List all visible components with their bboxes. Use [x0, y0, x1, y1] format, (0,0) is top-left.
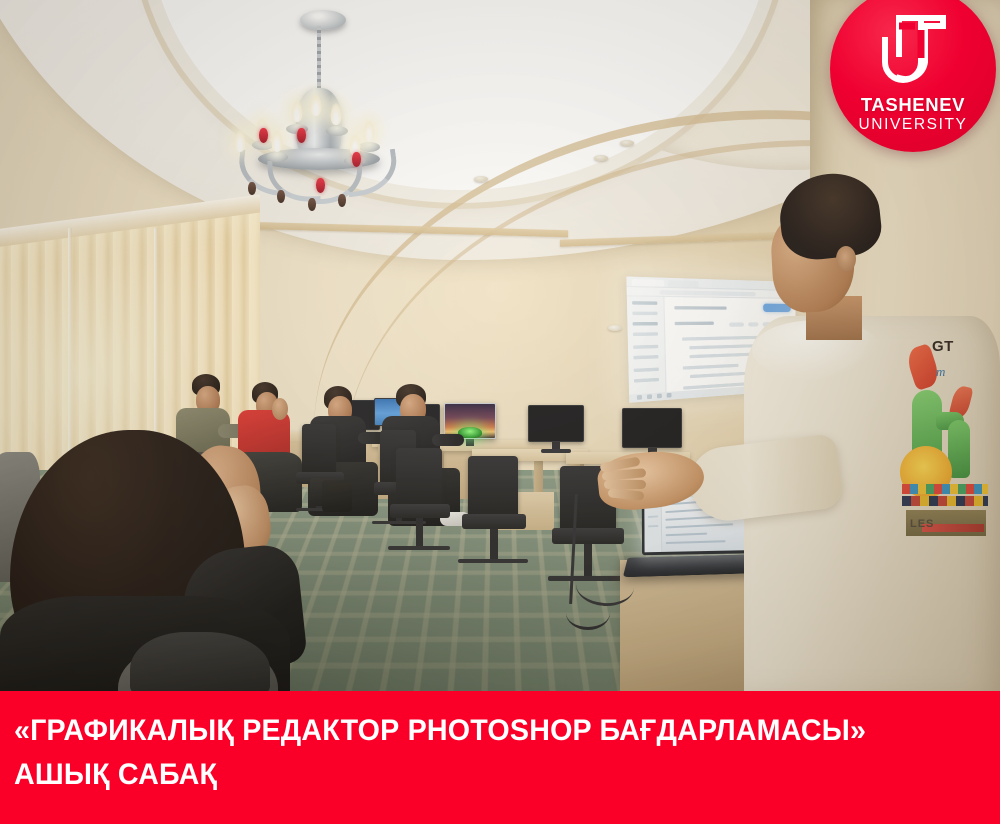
- chandelier-red-crystal: [297, 128, 306, 143]
- chandelier-bulb: [234, 130, 246, 152]
- chair-backrest: [396, 448, 442, 506]
- chandelier-dark-crystal: [338, 194, 346, 207]
- ceiling-rose: [300, 10, 346, 30]
- graphic-stripes: [902, 484, 988, 494]
- chandelier-bulb: [291, 100, 303, 122]
- bag: [322, 480, 352, 512]
- chair-backrest: [468, 456, 518, 516]
- university-logo: TASHENEV UNIVERSITY: [830, 0, 996, 152]
- chandelier-red-crystal: [316, 178, 325, 193]
- power-cable: [566, 596, 610, 630]
- chandelier-bulb: [310, 94, 322, 116]
- ceiling-hook-icon: [594, 155, 608, 161]
- ceiling-hook-icon: [620, 140, 634, 146]
- student-arm: [432, 434, 464, 446]
- content-row: [690, 353, 756, 359]
- sidebar-item: [634, 368, 659, 373]
- sidebar-item: [632, 301, 657, 305]
- chandelier-dark-crystal: [277, 190, 285, 203]
- chandelier-cup: [266, 152, 288, 162]
- caption-bar: «ГРАФИКАЛЫҚ РЕДАКТОР PHOTOSHOP БАҒДАРЛАМ…: [0, 691, 1000, 824]
- sidebar-item: [633, 345, 658, 349]
- chair-base: [388, 546, 450, 550]
- app-sidebar: [627, 296, 667, 394]
- laptop-content-row: [665, 516, 714, 521]
- laptop-content-row: [666, 540, 726, 544]
- tu-monogram-icon: [875, 10, 951, 90]
- chair-backrest: [302, 424, 336, 474]
- foreground-chair: [130, 632, 270, 692]
- caption-line-1: «ГРАФИКАЛЫҚ РЕДАКТОР PHOTOSHOP БАҒДАРЛАМ…: [14, 709, 956, 753]
- taskbar-icon: [647, 394, 652, 399]
- chair-seat: [552, 528, 624, 544]
- taskbar-icon: [637, 395, 642, 400]
- instructor-ear: [836, 246, 856, 272]
- graphic-stripes: [902, 496, 988, 506]
- logo-subtitle-text: UNIVERSITY: [830, 116, 996, 134]
- sidebar-item: [632, 312, 657, 315]
- chair-seat: [390, 504, 450, 518]
- monitor-screen-off: [528, 405, 584, 442]
- graphic-text-bottom: LES: [910, 518, 934, 530]
- chandelier-red-crystal: [352, 152, 361, 167]
- browser-tab: [632, 279, 665, 287]
- graphic-text-script: m: [936, 364, 945, 380]
- chair-post: [490, 529, 498, 561]
- chandelier-chain: [317, 26, 321, 92]
- laptop-content-row: [666, 523, 734, 528]
- content-row: [682, 336, 761, 341]
- poster-root: GT m LES TASHENEV U: [0, 0, 1000, 824]
- chandelier-cup: [358, 142, 380, 152]
- taskbar-icon: [657, 394, 662, 399]
- monitor-base: [541, 449, 571, 453]
- instructor-finger: [604, 480, 646, 489]
- chandelier-red-crystal: [259, 128, 268, 143]
- student-hand: [272, 398, 288, 420]
- ceiling-hook-icon: [474, 176, 488, 182]
- caption-line-2: АШЫҚ САБАҚ: [14, 753, 956, 797]
- sidebar-item: [634, 378, 659, 383]
- filter-chip: [729, 322, 744, 326]
- logo-name-text: TASHENEV: [830, 94, 996, 116]
- chandelier-dark-crystal: [248, 182, 256, 195]
- browser-tab: [668, 280, 699, 288]
- ceiling-hook-icon: [608, 325, 622, 331]
- graphic-text-top: GT: [932, 338, 954, 355]
- chair-post: [416, 518, 423, 548]
- chair-seat: [462, 514, 526, 529]
- chandelier-bulb: [363, 120, 375, 142]
- sidebar-item: [633, 332, 658, 336]
- content-subheading: [675, 322, 714, 326]
- chair-base: [458, 559, 528, 563]
- filter-chip: [748, 322, 758, 326]
- chandelier-dark-crystal: [308, 198, 316, 211]
- chandelier-bulb: [330, 103, 342, 125]
- chandelier-cup: [326, 126, 348, 136]
- sweatshirt-graphic-print: GT m LES: [896, 328, 992, 540]
- chandelier-bulb: [271, 130, 283, 152]
- sidebar-item: [633, 355, 658, 359]
- content-row: [683, 364, 739, 370]
- monitor-stand: [466, 439, 474, 446]
- taskbar-icon: [667, 393, 672, 398]
- sidebar-item: [633, 322, 658, 326]
- laptop-content-row: [666, 533, 708, 537]
- monitor-screen-off: [622, 408, 682, 448]
- content-heading: [674, 306, 726, 310]
